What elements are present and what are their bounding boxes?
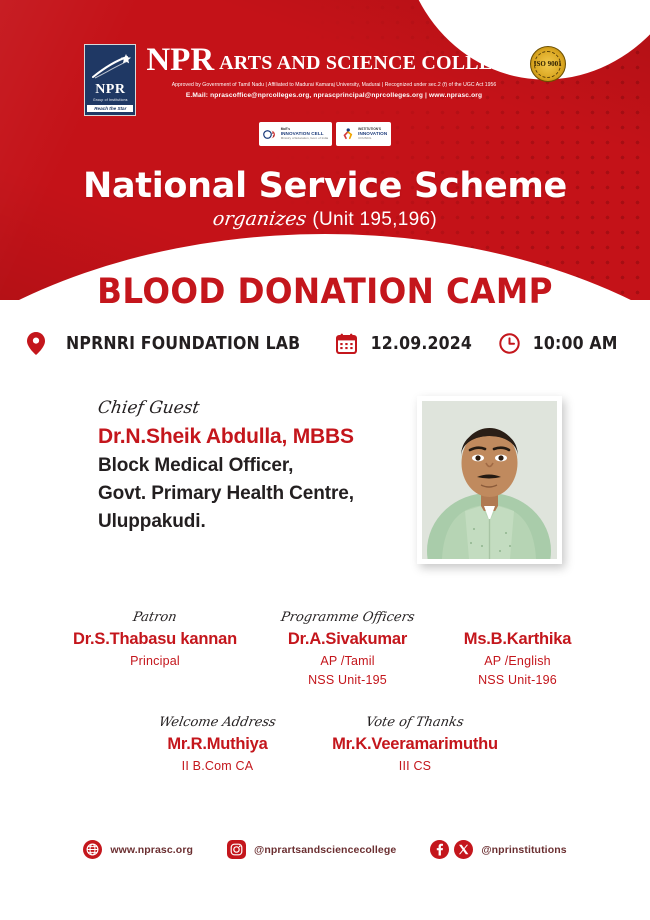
chief-guest-name: Dr.N.Sheik Abdulla, MBBS (98, 425, 398, 449)
iso-badge-ring (534, 51, 561, 78)
patron-detail-1: Principal (48, 654, 263, 668)
college-title-npr: NPR (146, 42, 214, 78)
programme-officers-label: Programme Officers (279, 610, 415, 625)
college-title: NPRARTS AND SCIENCE COLLEGE (146, 44, 521, 77)
programme-officer-1-block: Programme Officers Dr.A.Sivakumar AP /Ta… (263, 608, 433, 687)
programme-officer-2-name: Ms.B.Karthika (433, 630, 603, 649)
welcome-address-block: Welcome Address Mr.R.Muthiya II B.Com CA (128, 713, 308, 773)
organizes-label: organizes (211, 208, 307, 230)
welcome-address-label: Welcome Address (158, 715, 277, 730)
poster: NPR Group of Institutions Reach the Star… (0, 0, 650, 920)
location-pin-icon (27, 332, 45, 355)
npr-logo: NPR Group of Institutions Reach the Star (84, 44, 136, 116)
partner-logos-row: MoE's INNOVATION CELL Ministry of Educat… (0, 122, 650, 146)
college-title-rest: ARTS AND SCIENCE COLLEGE (219, 52, 522, 74)
iic-logo-text: INSTITUTION'S INNOVATION COUNCIL (358, 128, 387, 140)
x-twitter-glyph-icon (457, 843, 470, 856)
programme-officer-1-detail-1: AP /Tamil (263, 654, 433, 668)
header-title-row: NPR Group of Institutions Reach the Star… (0, 0, 650, 116)
organizes-row: organizes (Unit 195,196) (0, 208, 650, 231)
chief-guest-block: Chief Guest Dr.N.Sheik Abdulla, MBBS Blo… (98, 398, 398, 533)
officials-row-top: Patron Dr.S.Thabasu kannan Principal Pro… (0, 608, 650, 687)
programme-officer-2-detail-1: AP /English (433, 654, 603, 668)
patron-label: Patron (132, 610, 178, 625)
officials-row-bottom: Welcome Address Mr.R.Muthiya II B.Com CA… (0, 713, 650, 773)
portrait-illustration (422, 401, 557, 559)
vote-of-thanks-name: Mr.K.Veeramarimuthu (308, 735, 523, 754)
venue-item: NPRNRI FOUNDATION LAB (27, 332, 313, 355)
event-title: BLOOD DONATION CAMP (23, 272, 628, 312)
moe-innovation-cell-logo: MoE's INNOVATION CELL Ministry of Educat… (259, 122, 332, 146)
instagram-icon[interactable] (227, 840, 246, 859)
time-text: 10:00 AM (533, 334, 618, 354)
vote-of-thanks-detail-1: III CS (308, 759, 523, 773)
chief-guest-photo-image (422, 401, 557, 559)
moe-logo-line3: Ministry of Education, Govt. of India (281, 137, 328, 140)
npr-logo-tagline: Reach the Star (87, 105, 133, 112)
instagram-item[interactable]: @nprartsandsciencecollege (227, 840, 396, 859)
facebook-icon[interactable] (430, 840, 449, 859)
patron-name: Dr.S.Thabasu kannan (48, 630, 263, 649)
vote-of-thanks-label: Vote of Thanks (365, 715, 465, 730)
x-twitter-icon[interactable] (454, 840, 473, 859)
globe-icon[interactable] (83, 840, 102, 859)
venue-text: NPRNRI FOUNDATION LAB (66, 334, 300, 354)
star-swoosh-icon (91, 53, 131, 79)
website-item[interactable]: www.nprasc.org (83, 840, 193, 859)
chief-guest-detail-3: Uluppakudi. (98, 511, 398, 533)
npr-logo-name: NPR (95, 83, 125, 97)
iso-certification-badge: ISO 9001 (530, 46, 566, 82)
social-handle-item[interactable]: @nprinstitutions (430, 840, 566, 859)
calendar-icon (336, 333, 357, 354)
iic-logo-line3: COUNCIL (358, 137, 387, 140)
chief-guest-photo (417, 396, 562, 564)
officials-section: Patron Dr.S.Thabasu kannan Principal Pro… (0, 608, 650, 773)
facebook-glyph-icon (433, 843, 446, 856)
patron-block: Patron Dr.S.Thabasu kannan Principal (48, 608, 263, 668)
running-figure-icon (340, 127, 355, 142)
date-text: 12.09.2024 (370, 334, 471, 354)
social-handle-text[interactable]: @nprinstitutions (481, 844, 566, 856)
programme-officer-1-name: Dr.A.Sivakumar (263, 630, 433, 649)
npr-logo-subtitle: Group of Institutions (93, 98, 128, 102)
clock-icon (499, 333, 520, 354)
instagram-glyph-icon (230, 843, 243, 856)
welcome-address-detail-1: II B.Com CA (128, 759, 308, 773)
website-text[interactable]: www.nprasc.org (110, 844, 193, 856)
vote-of-thanks-block: Vote of Thanks Mr.K.Veeramarimuthu III C… (308, 713, 523, 773)
social-icon-group (430, 840, 473, 859)
chief-guest-detail-2: Govt. Primary Health Centre, (98, 483, 398, 505)
programme-officer-2-block: Programme Officers Ms.B.Karthika AP /Eng… (433, 608, 603, 687)
programme-officer-2-detail-2: NSS Unit-196 (433, 673, 603, 687)
contact-line: E.Mail: nprascoffice@nprcolleges.org, np… (146, 92, 521, 99)
approval-line: Approved by Government of Tamil Nadu | A… (146, 82, 521, 88)
programme-officer-1-detail-2: NSS Unit-195 (263, 673, 433, 687)
institutions-innovation-council-logo: INSTITUTION'S INNOVATION COUNCIL (336, 122, 391, 146)
header-content: NPR Group of Institutions Reach the Star… (0, 0, 650, 231)
time-item: 10:00 AM (499, 333, 622, 354)
chief-guest-detail-1: Block Medical Officer, (98, 455, 398, 477)
welcome-address-name: Mr.R.Muthiya (128, 735, 308, 754)
date-item: 12.09.2024 (336, 333, 478, 354)
unit-label: (Unit 195,196) (312, 209, 437, 231)
globe-glyph-icon (86, 843, 99, 856)
chief-guest-label: Chief Guest (97, 398, 201, 418)
brain-gear-icon (263, 127, 278, 142)
footer-social-row: www.nprasc.org @nprartsandsciencecollege (0, 840, 650, 859)
event-meta-row: NPRNRI FOUNDATION LAB 12.09.2024 10:00 A… (0, 332, 650, 355)
instagram-text[interactable]: @nprartsandsciencecollege (254, 844, 396, 856)
scheme-title: National Service Scheme (0, 166, 650, 206)
moe-logo-text: MoE's INNOVATION CELL Ministry of Educat… (281, 128, 328, 140)
college-heading: NPRARTS AND SCIENCE COLLEGE Approved by … (146, 44, 521, 99)
